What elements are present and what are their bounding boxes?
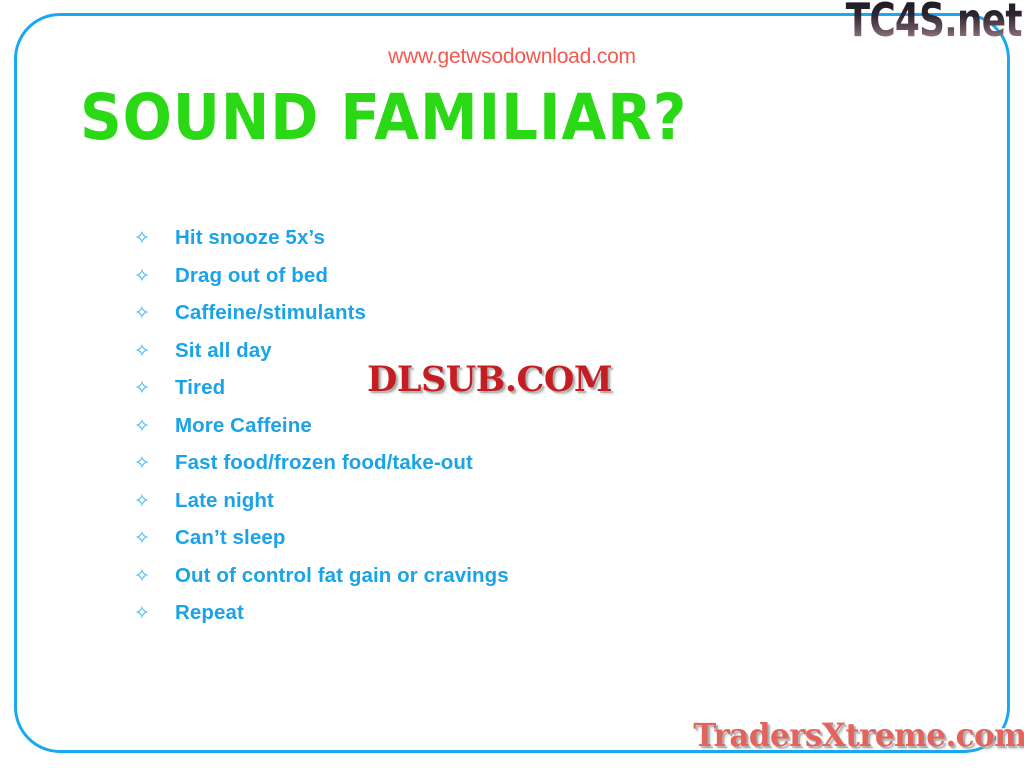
- list-item: ✧ Hit snooze 5x’s: [134, 219, 509, 257]
- list-item-label: Can’t sleep: [175, 519, 285, 557]
- list-item-label: More Caffeine: [175, 407, 312, 445]
- page-title: SOUND FAMILIAR?: [80, 86, 687, 149]
- watermark-dlsub: DLSUB.COM: [367, 359, 612, 400]
- list-item: ✧ More Caffeine: [134, 407, 509, 445]
- list-item-label: Out of control fat gain or cravings: [175, 557, 509, 595]
- list-item-label: Tired: [175, 369, 225, 407]
- list-item: ✧ Fast food/frozen food/take-out: [134, 444, 509, 482]
- list-item: ✧ Out of control fat gain or cravings: [134, 557, 509, 595]
- list-item-label: Hit snooze 5x’s: [175, 219, 325, 257]
- four-pointed-star-icon: ✧: [134, 595, 175, 633]
- four-pointed-star-icon: ✧: [134, 333, 175, 371]
- list-item: ✧ Can’t sleep: [134, 519, 509, 557]
- four-pointed-star-icon: ✧: [134, 220, 175, 258]
- list-item-label: Repeat: [175, 594, 244, 632]
- four-pointed-star-icon: ✧: [134, 558, 175, 596]
- four-pointed-star-icon: ✧: [134, 483, 175, 521]
- list-item: ✧ Repeat: [134, 594, 509, 632]
- list-item-label: Late night: [175, 482, 274, 520]
- four-pointed-star-icon: ✧: [134, 408, 175, 446]
- list-item: ✧ Caffeine/stimulants: [134, 294, 509, 332]
- logo-tc4s: TC4S.net: [846, 0, 1022, 43]
- list-item-label: Sit all day: [175, 332, 272, 370]
- four-pointed-star-icon: ✧: [134, 370, 175, 408]
- four-pointed-star-icon: ✧: [134, 520, 175, 558]
- list-item: ✧ Drag out of bed: [134, 257, 509, 295]
- logo-tradersxtreme: TradersXtreme.com: [693, 716, 1024, 754]
- slide-canvas: www.getwsodownload.com SOUND FAMILIAR? ✧…: [0, 0, 1024, 768]
- source-url-text: www.getwsodownload.com: [0, 45, 1024, 69]
- list-item-label: Drag out of bed: [175, 257, 328, 295]
- list-item-label: Fast food/frozen food/take-out: [175, 444, 473, 482]
- list-item-label: Caffeine/stimulants: [175, 294, 366, 332]
- list-item: ✧ Late night: [134, 482, 509, 520]
- four-pointed-star-icon: ✧: [134, 445, 175, 483]
- four-pointed-star-icon: ✧: [134, 295, 175, 333]
- bullet-list: ✧ Hit snooze 5x’s ✧ Drag out of bed ✧ Ca…: [134, 219, 509, 632]
- four-pointed-star-icon: ✧: [134, 258, 175, 296]
